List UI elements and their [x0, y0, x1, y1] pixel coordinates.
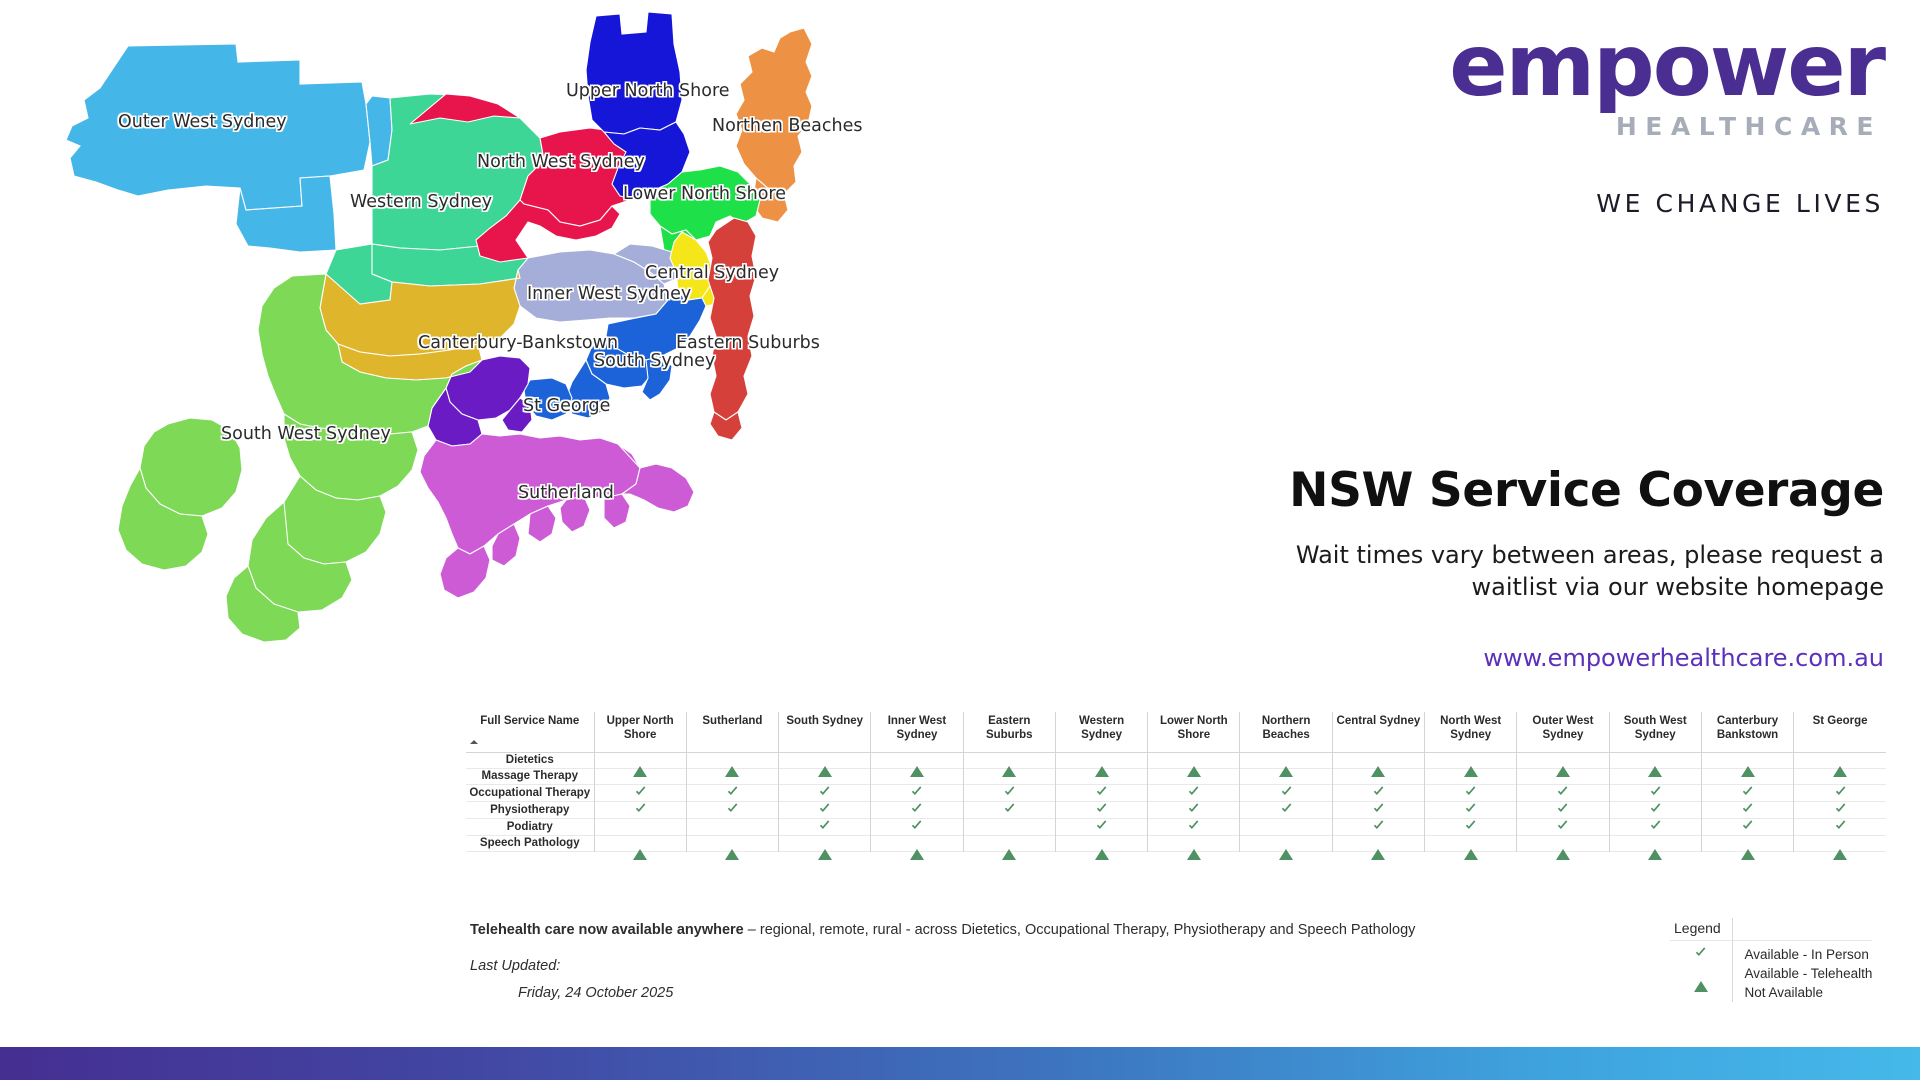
- check-icon: [910, 785, 923, 798]
- column-header-sutherland[interactable]: Sutherland: [686, 712, 778, 752]
- triangle-icon: [1648, 754, 1662, 777]
- coverage-cell: [1701, 818, 1793, 835]
- triangle-icon: [1187, 837, 1201, 860]
- last-updated-value: Friday, 24 October 2025: [518, 985, 673, 1001]
- check-icon: [1280, 785, 1293, 798]
- check-icon: [1372, 802, 1385, 815]
- coverage-cell: [1055, 801, 1147, 818]
- coverage-cell: [1055, 818, 1147, 835]
- check-icon: [1741, 819, 1754, 832]
- coverage-cell: [1055, 784, 1147, 801]
- coverage-cell: [1240, 752, 1332, 768]
- sort-ascending-icon[interactable]: [470, 740, 478, 744]
- coverage-cell: [1425, 835, 1517, 851]
- column-header-outer-west-sydney[interactable]: Outer West Sydney: [1517, 712, 1609, 752]
- coverage-cell: [871, 835, 963, 851]
- coverage-cell: [779, 784, 871, 801]
- legend-title: Legend: [1670, 918, 1732, 941]
- page-subtitle: Wait times vary between areas, please re…: [1240, 540, 1884, 604]
- coverage-cell: [871, 801, 963, 818]
- coverage-cell: [871, 752, 963, 768]
- coverage-cell: [1332, 752, 1424, 768]
- table-header-row: Full Service Name Upper North Shore Suth…: [466, 712, 1886, 752]
- table-row: Speech Pathology: [466, 835, 1886, 851]
- check-icon: [1372, 785, 1385, 798]
- coverage-cell: [1517, 835, 1609, 851]
- service-name-cell: Physiotherapy: [466, 801, 594, 818]
- legend-item-in-person: Available - In Person: [1670, 941, 1872, 965]
- page-title: NSW Service Coverage: [1240, 463, 1884, 518]
- check-icon: [1741, 802, 1754, 815]
- check-icon: [1095, 785, 1108, 798]
- triangle-icon: [1464, 837, 1478, 860]
- triangle-icon: [910, 754, 924, 777]
- column-header-western-sydney[interactable]: Western Sydney: [1055, 712, 1147, 752]
- check-icon: [1670, 941, 1732, 965]
- column-header-st-george[interactable]: St George: [1794, 712, 1886, 752]
- coverage-cell: [686, 835, 778, 851]
- check-icon: [910, 819, 923, 832]
- check-icon: [910, 802, 923, 815]
- coverage-cell: [871, 818, 963, 835]
- triangle-icon: [1556, 837, 1570, 860]
- coverage-cell: [1609, 818, 1701, 835]
- coverage-cell: [963, 784, 1055, 801]
- check-icon: [1741, 785, 1754, 798]
- check-icon: [1095, 819, 1108, 832]
- check-icon: [1556, 819, 1569, 832]
- map-svg: [0, 0, 1150, 760]
- sydney-region-map: Outer West Sydney Western Sydney North W…: [0, 0, 1150, 760]
- table-row: Podiatry: [466, 818, 1886, 835]
- column-header-south-sydney[interactable]: South Sydney: [779, 712, 871, 752]
- map-region-eastern-suburbs: [708, 218, 756, 440]
- triangle-icon: [818, 754, 832, 777]
- column-header-south-west-sydney[interactable]: South West Sydney: [1609, 712, 1701, 752]
- legend-table: Legend Available - In Person Available -…: [1670, 918, 1872, 1002]
- coverage-cell: [1425, 752, 1517, 768]
- service-name-cell: Occupational Therapy: [466, 784, 594, 801]
- column-header-lower-north-shore[interactable]: Lower North Shore: [1148, 712, 1240, 752]
- coverage-cell: [686, 784, 778, 801]
- coverage-cell: [594, 801, 686, 818]
- logo-subtitle: HEALTHCARE: [1240, 112, 1884, 141]
- legend-label-not-available: Not Available: [1732, 983, 1872, 1002]
- triangle-icon: [1464, 754, 1478, 777]
- coverage-cell: [594, 752, 686, 768]
- table-body: DieteticsMassage TherapyOccupational The…: [466, 752, 1886, 851]
- check-icon: [1372, 819, 1385, 832]
- triangle-icon: [725, 837, 739, 860]
- coverage-cell: [594, 818, 686, 835]
- legend-item-telehealth: Available - Telehealth: [1670, 964, 1872, 983]
- coverage-cell: [779, 818, 871, 835]
- check-icon: [1649, 802, 1662, 815]
- empower-healthcare-logo: empower HEALTHCARE: [1240, 0, 1884, 141]
- column-header-upper-north-shore[interactable]: Upper North Shore: [594, 712, 686, 752]
- coverage-cell: [1609, 835, 1701, 851]
- coverage-cell: [963, 801, 1055, 818]
- coverage-cell: [1240, 784, 1332, 801]
- column-header-full-service-name[interactable]: Full Service Name: [466, 712, 594, 752]
- coverage-cell: [1240, 801, 1332, 818]
- coverage-cell: [1609, 801, 1701, 818]
- check-icon: [818, 819, 831, 832]
- column-header-inner-west-sydney[interactable]: Inner West Sydney: [871, 712, 963, 752]
- coverage-cell: [1609, 752, 1701, 768]
- coverage-cell: [1148, 835, 1240, 851]
- column-header-eastern-suburbs[interactable]: Eastern Suburbs: [963, 712, 1055, 752]
- coverage-cell: [1425, 784, 1517, 801]
- triangle-icon: [1002, 837, 1016, 860]
- triangle-icon: [1556, 754, 1570, 777]
- coverage-cell: [1332, 784, 1424, 801]
- coverage-cell: [686, 818, 778, 835]
- coverage-cell: [594, 784, 686, 801]
- column-header-north-west-sydney[interactable]: North West Sydney: [1425, 712, 1517, 752]
- coverage-cell: [963, 835, 1055, 851]
- telehealth-note: Telehealth care now available anywhere –…: [470, 922, 1620, 938]
- brand-panel: empower HEALTHCARE WE CHANGE LIVES NSW S…: [1240, 0, 1920, 700]
- triangle-icon: [1648, 837, 1662, 860]
- triangle-icon: [1187, 754, 1201, 777]
- triangle-icon: [1095, 837, 1109, 860]
- check-icon: [726, 785, 739, 798]
- map-region-outer-west-sydney: [66, 44, 392, 252]
- check-icon: [1834, 785, 1847, 798]
- check-icon: [726, 802, 739, 815]
- column-header-central-sydney[interactable]: Central Sydney: [1332, 712, 1424, 752]
- legend-label-in-person: Available - In Person: [1732, 941, 1872, 965]
- coverage-cell: [1701, 784, 1793, 801]
- legend-label-telehealth: Available - Telehealth: [1732, 964, 1872, 983]
- table-row: Occupational Therapy: [466, 784, 1886, 801]
- triangle-icon: [1833, 754, 1847, 777]
- triangle-icon: [1371, 837, 1385, 860]
- table-row: Physiotherapy: [466, 801, 1886, 818]
- service-name-cell: Speech Pathology: [466, 835, 594, 851]
- coverage-cell: [871, 784, 963, 801]
- table-row: Dietetics: [466, 752, 1886, 768]
- check-icon: [1556, 785, 1569, 798]
- service-coverage-table-panel: Full Service Name Upper North Shore Suth…: [466, 712, 1886, 852]
- check-icon: [634, 802, 647, 815]
- website-link[interactable]: www.empowerhealthcare.com.au: [1240, 644, 1884, 672]
- coverage-cell: [1794, 818, 1886, 835]
- coverage-cell: [1148, 801, 1240, 818]
- triangle-icon: [1095, 754, 1109, 777]
- coverage-cell: [1148, 752, 1240, 768]
- check-icon: [1187, 802, 1200, 815]
- coverage-cell: [686, 801, 778, 818]
- coverage-cell: [779, 752, 871, 768]
- check-icon: [1834, 802, 1847, 815]
- logo-wordmark: empower: [1240, 26, 1884, 108]
- check-icon: [818, 785, 831, 798]
- triangle-icon: [1279, 837, 1293, 860]
- coverage-cell: [1517, 818, 1609, 835]
- coverage-cell: [963, 818, 1055, 835]
- check-icon: [1464, 802, 1477, 815]
- coverage-cell: [1701, 835, 1793, 851]
- check-icon: [1649, 819, 1662, 832]
- coverage-cell: [1517, 784, 1609, 801]
- coverage-cell: [1055, 752, 1147, 768]
- check-icon: [1003, 802, 1016, 815]
- coverage-cell: [1517, 801, 1609, 818]
- triangle-icon: [1741, 754, 1755, 777]
- coverage-cell: [1332, 818, 1424, 835]
- column-header-label: Full Service Name: [480, 715, 579, 727]
- legend: Legend Available - In Person Available -…: [1670, 918, 1900, 1002]
- coverage-cell: [1794, 784, 1886, 801]
- check-icon: [1649, 785, 1662, 798]
- triangle-icon: [1279, 754, 1293, 777]
- check-icon: [818, 802, 831, 815]
- coverage-cell: [1240, 818, 1332, 835]
- service-name-cell: Podiatry: [466, 818, 594, 835]
- check-icon: [1095, 802, 1108, 815]
- legend-title-row: Legend: [1670, 918, 1872, 941]
- coverage-cell: [1609, 784, 1701, 801]
- coverage-cell: [686, 752, 778, 768]
- coverage-cell: [1332, 801, 1424, 818]
- triangle-icon: [633, 837, 647, 860]
- coverage-cell: [1425, 801, 1517, 818]
- coverage-cell: [1148, 818, 1240, 835]
- check-icon: [1003, 785, 1016, 798]
- service-coverage-table: Full Service Name Upper North Shore Suth…: [466, 712, 1886, 852]
- check-icon: [1464, 819, 1477, 832]
- triangle-icon: [1371, 754, 1385, 777]
- check-icon: [1464, 785, 1477, 798]
- coverage-cell: [1701, 801, 1793, 818]
- triangle-icon: [1833, 837, 1847, 860]
- coverage-cell: [1332, 835, 1424, 851]
- coverage-cell: [1148, 784, 1240, 801]
- check-icon: [1556, 802, 1569, 815]
- column-header-canterbury-bankstown[interactable]: Canterbury Bankstown: [1701, 712, 1793, 752]
- map-region-sutherland: [420, 434, 694, 598]
- triangle-icon: [1741, 837, 1755, 860]
- bottom-gradient-bar: [0, 1047, 1920, 1080]
- telehealth-note-rest: – regional, remote, rural - across Diete…: [744, 922, 1416, 938]
- triangle-icon: [818, 837, 832, 860]
- coverage-cell: [963, 752, 1055, 768]
- service-name-cell: Massage Therapy: [466, 768, 594, 784]
- service-name-cell: Dietetics: [466, 752, 594, 768]
- table-row: Massage Therapy: [466, 768, 1886, 784]
- last-updated-label: Last Updated:: [470, 958, 560, 974]
- coverage-cell: [594, 835, 686, 851]
- coverage-cell: [1701, 752, 1793, 768]
- triangle-icon: [910, 837, 924, 860]
- coverage-cell: [779, 835, 871, 851]
- coverage-cell: [1517, 752, 1609, 768]
- coverage-cell: [1240, 835, 1332, 851]
- check-icon: [1187, 819, 1200, 832]
- brand-tagline: WE CHANGE LIVES: [1240, 189, 1884, 218]
- triangle-icon: [1002, 754, 1016, 777]
- column-header-northern-beaches[interactable]: Northern Beaches: [1240, 712, 1332, 752]
- coverage-cell: [1425, 818, 1517, 835]
- coverage-cell: [1794, 752, 1886, 768]
- triangle-icon: [633, 754, 647, 777]
- check-icon: [1280, 802, 1293, 815]
- coverage-cell: [779, 801, 871, 818]
- triangle-icon: [725, 754, 739, 777]
- coverage-cell: [1055, 835, 1147, 851]
- coverage-cell: [1794, 801, 1886, 818]
- coverage-cell: [1794, 835, 1886, 851]
- triangle-icon: [1670, 964, 1732, 983]
- legend-title-spacer: [1732, 918, 1872, 941]
- check-icon: [634, 785, 647, 798]
- check-icon: [1834, 819, 1847, 832]
- check-icon: [1187, 785, 1200, 798]
- telehealth-note-bold: Telehealth care now available anywhere: [470, 922, 744, 938]
